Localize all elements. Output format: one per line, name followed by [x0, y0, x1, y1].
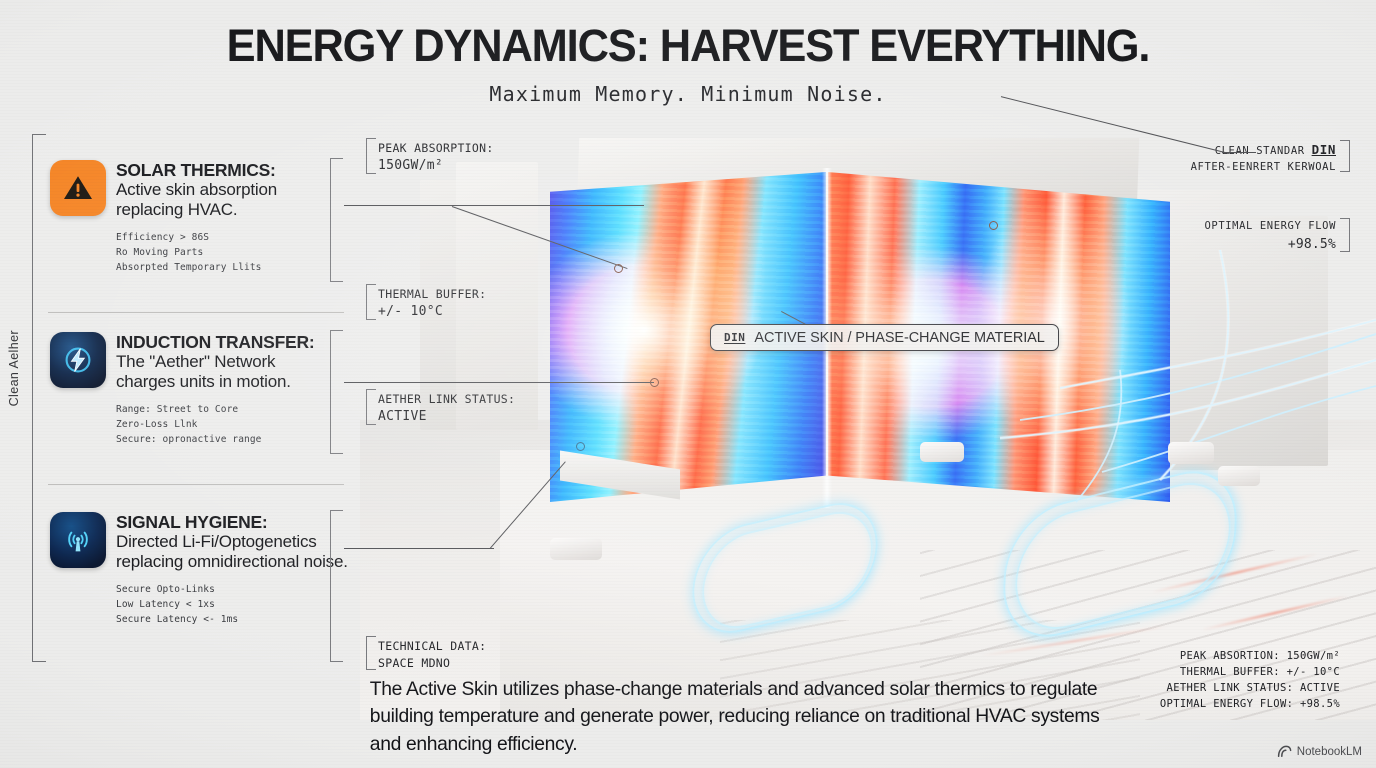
tech-line: PEAK ABSORTION: 150GW/m² [1160, 648, 1340, 664]
leader-dot [576, 442, 585, 451]
feature-heading: SOLAR THERMICS: [116, 160, 350, 180]
feature-signal-hygiene[interactable]: SIGNAL HYGIENE: Directed Li-Fi/Optogenet… [50, 512, 350, 627]
callout-bracket [366, 138, 376, 174]
lightning-bolt-icon [50, 332, 106, 388]
feature-meta-line: Efficiency > 86S [116, 231, 350, 246]
page-subtitle: Maximum Memory. Minimum Noise. [0, 82, 1376, 106]
sidebar-divider [48, 484, 344, 485]
feature-meta-line: Ro Moving Parts [116, 246, 350, 261]
sidebar-bracket [32, 134, 46, 662]
leader-line [344, 382, 654, 383]
watermark-label: NotebookLM [1297, 746, 1362, 758]
callout-value: +98.5% [1204, 235, 1336, 255]
feature-meta-line: Zero-Loss Llnk [116, 418, 350, 433]
notebooklm-watermark: NotebookLM [1277, 745, 1362, 758]
callout-optimal-energy-flow: OPTIMAL ENERGY FLOW +98.5% [1204, 219, 1336, 254]
warning-triangle-icon [50, 160, 106, 216]
callout-clean-standard: CLEAN STANDAR DIN AFTER-EENRERT KERWOAL [1191, 141, 1336, 176]
callout-value: 150GW/m² [378, 157, 494, 176]
callout-label: OPTIMAL ENERGY FLOW [1204, 219, 1336, 235]
tech-line: THERMAL BUFFER: +/- 10°C [1160, 664, 1340, 680]
leader-line [344, 205, 644, 206]
feature-meta-line: Absorpted Temporary Llits [116, 261, 350, 276]
sidebar-divider [48, 312, 344, 313]
tech-line: OPTIMAL ENERGY FLOW: +98.5% [1160, 696, 1340, 712]
vehicle [920, 442, 964, 462]
callout-bracket [366, 636, 376, 670]
feature-meta: Efficiency > 86S Ro Moving Parts Absorpt… [116, 231, 350, 275]
vehicle [1168, 442, 1214, 464]
feature-meta: Secure Opto-Links Low Latency < 1xs Secu… [116, 583, 350, 627]
callout-bracket [366, 389, 376, 425]
callout-label: TECHNICAL DATA: [378, 638, 486, 655]
pill-label: ACTIVE SKIN / PHASE-CHANGE MATERIAL [754, 330, 1044, 346]
page-title: ENERGY DYNAMICS: HARVEST EVERYTHING. [24, 20, 1352, 72]
callout-thermal-buffer: THERMAL BUFFER: +/- 10°C [378, 286, 486, 322]
leader-dot [650, 378, 659, 387]
callout-value: +/- 10°C [378, 303, 486, 322]
feature-line-2: charges units in motion. [116, 372, 350, 392]
feature-solar-thermics[interactable]: SOLAR THERMICS: Active skin absorption r… [50, 160, 350, 275]
callout-label: PEAK ABSORPTION: [378, 140, 494, 157]
callout-bracket-right [1340, 140, 1350, 172]
notebooklm-logo-icon [1277, 745, 1292, 758]
leader-line [344, 548, 494, 549]
active-skin-pill[interactable]: DIN ACTIVE SKIN / PHASE-CHANGE MATERIAL [710, 324, 1059, 351]
callout-label: AETHER LINK STATUS: [378, 391, 515, 408]
callout-aether-link-status: AETHER LINK STATUS: ACTIVE [378, 391, 515, 427]
feature-heading: SIGNAL HYGIENE: [116, 512, 350, 532]
feature-line-1: Active skin absorption [116, 180, 350, 200]
vehicle [1218, 466, 1260, 486]
feature-meta-line: Range: Street to Core [116, 403, 350, 418]
feature-bracket [330, 510, 343, 662]
feature-bracket [330, 330, 343, 454]
feature-line-2: replacing HVAC. [116, 200, 350, 220]
din-badge: DIN [724, 331, 745, 344]
callout-bracket [366, 284, 376, 320]
feature-bracket [330, 158, 343, 282]
callout-technical-data: TECHNICAL DATA: SPACE MDNO [378, 638, 486, 671]
signal-broadcast-icon [50, 512, 106, 568]
summary-paragraph: The Active Skin utilizes phase-change ma… [370, 676, 1122, 758]
feature-meta-line: Low Latency < 1xs [116, 598, 350, 613]
active-skin-building [550, 172, 1170, 542]
leader-dot [989, 221, 998, 230]
callout-sub: AFTER-EENRERT KERWOAL [1191, 160, 1336, 176]
feature-meta-line: Secure Opto-Links [116, 583, 350, 598]
feature-meta-line: Secure: opronactive range [116, 433, 350, 448]
feature-line-1: The "Aether" Network [116, 352, 350, 372]
leader-dot [614, 264, 623, 273]
infographic-canvas: ENERGY DYNAMICS: HARVEST EVERYTHING. Max… [0, 0, 1376, 768]
feature-heading: INDUCTION TRANSFER: [116, 332, 350, 352]
callout-value: SPACE MDNO [378, 655, 486, 672]
din-badge: DIN [1312, 142, 1336, 157]
callout-value: ACTIVE [378, 408, 515, 427]
feature-meta: Range: Street to Core Zero-Loss Llnk Sec… [116, 403, 350, 447]
callout-label: CLEAN STANDAR [1215, 145, 1305, 157]
feature-meta-line: Secure Latency <- 1ms [116, 613, 350, 628]
feature-line-1: Directed Li-Fi/Optogenetics [116, 532, 350, 552]
sidebar-vertical-label: Clean Aelher [7, 330, 21, 406]
feature-line-2: replacing omnidirectional noise. [116, 552, 350, 572]
vehicle [550, 538, 602, 560]
feature-text: SOLAR THERMICS: Active skin absorption r… [116, 160, 350, 220]
technical-data-block: PEAK ABSORTION: 150GW/m² THERMAL BUFFER:… [1160, 648, 1340, 712]
feature-text: SIGNAL HYGIENE: Directed Li-Fi/Optogenet… [116, 512, 350, 572]
feature-induction-transfer[interactable]: INDUCTION TRANSFER: The "Aether" Network… [50, 332, 350, 447]
feature-text: INDUCTION TRANSFER: The "Aether" Network… [116, 332, 350, 392]
callout-label: THERMAL BUFFER: [378, 286, 486, 303]
callout-peak-absorption: PEAK ABSORPTION: 150GW/m² [378, 140, 494, 176]
tech-line: AETHER LINK STATUS: ACTIVE [1160, 680, 1340, 696]
callout-bracket-right [1340, 218, 1350, 252]
